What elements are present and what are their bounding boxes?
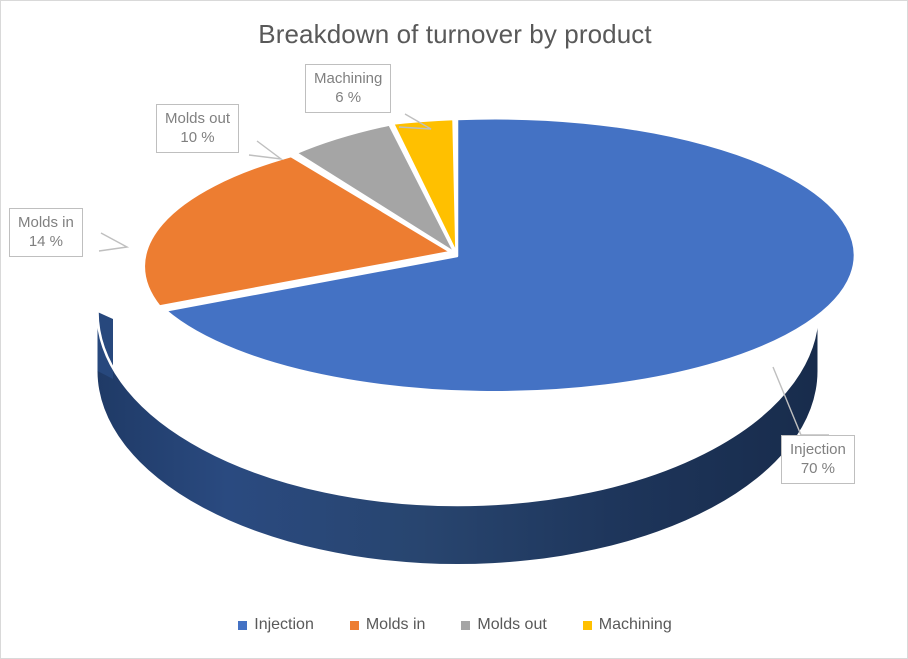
legend-item-machining[interactable]: Machining <box>583 616 672 634</box>
data-label-injection-value: 70 % <box>790 459 846 478</box>
legend-item-molds-out[interactable]: Molds out <box>461 616 546 634</box>
legend-swatch-molds-in-icon <box>350 621 359 630</box>
pie-top-face <box>144 118 855 392</box>
legend-swatch-injection-icon <box>238 621 247 630</box>
leader-line-molds-in <box>99 233 127 251</box>
legend-swatch-molds-out-icon <box>461 621 470 630</box>
data-label-machining-name: Machining <box>314 69 382 88</box>
data-label-molds-out-value: 10 % <box>165 128 230 147</box>
data-label-molds-out-name: Molds out <box>165 109 230 128</box>
data-label-injection[interactable]: Injection 70 % <box>781 435 855 484</box>
data-label-machining-value: 6 % <box>314 88 382 107</box>
data-label-molds-in-name: Molds in <box>18 213 74 232</box>
legend-label-injection: Injection <box>254 616 314 634</box>
chart-frame: Breakdown of turnover by product <box>0 0 908 659</box>
data-label-injection-name: Injection <box>790 440 846 459</box>
data-label-molds-in-value: 14 % <box>18 232 74 251</box>
cylinder-left-cut <box>98 312 114 379</box>
data-label-molds-in[interactable]: Molds in 14 % <box>9 208 83 257</box>
legend-label-molds-out: Molds out <box>477 616 546 634</box>
chart-legend: Injection Molds in Molds out Machining <box>1 616 908 634</box>
pie-chart-graphic[interactable] <box>1 1 908 659</box>
legend-swatch-machining-icon <box>583 621 592 630</box>
leader-line-molds-out <box>249 141 281 159</box>
legend-item-injection[interactable]: Injection <box>238 616 314 634</box>
legend-label-molds-in: Molds in <box>366 616 426 634</box>
data-label-machining[interactable]: Machining 6 % <box>305 64 391 113</box>
legend-label-machining: Machining <box>599 616 672 634</box>
data-label-molds-out[interactable]: Molds out 10 % <box>156 104 239 153</box>
legend-item-molds-in[interactable]: Molds in <box>350 616 426 634</box>
